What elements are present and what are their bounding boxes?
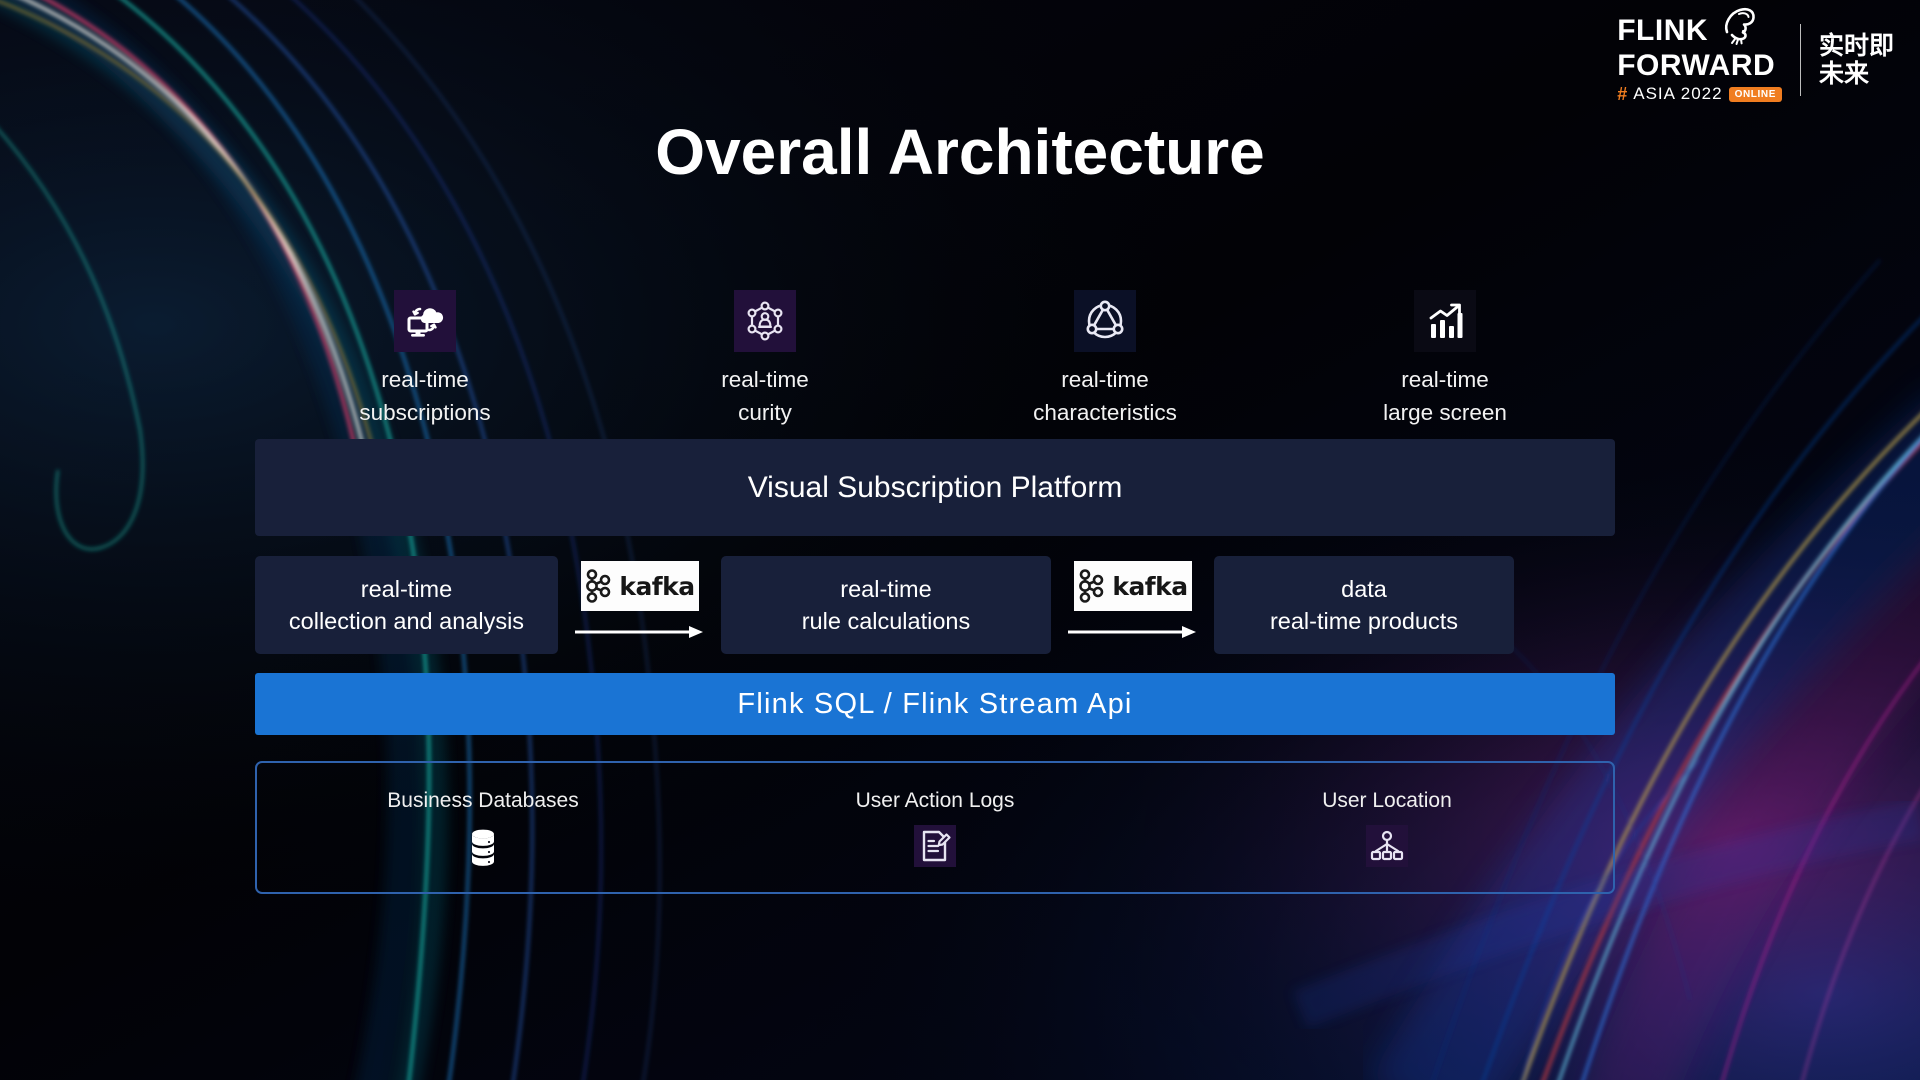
connector-kafka-1: kafka <box>558 556 721 654</box>
source-label: User Location <box>1322 789 1452 813</box>
source-user-action-logs: User Action Logs <box>709 789 1161 867</box>
logo-word-forward: FORWARD <box>1617 51 1775 81</box>
logo-chinese-line1: 实时即 <box>1819 32 1894 60</box>
pipeline-row: real-time collection and analysis <box>255 556 1615 654</box>
source-user-location: User Location <box>1161 789 1613 867</box>
logo-edition-row: # ASIA 2022 ONLINE <box>1617 85 1782 103</box>
consumer-label: real-time characteristics <box>1033 363 1177 429</box>
stage-line2: real-time products <box>1270 605 1458 637</box>
cloud-monitor-sync-icon <box>394 290 456 352</box>
consumer-real-time-curity: real-time curity <box>595 290 935 429</box>
logo-chinese-tagline: 实时即 未来 <box>1819 32 1894 88</box>
connector-kafka-2: kafka <box>1051 556 1214 654</box>
architecture-diagram: real-time subscriptions <box>255 290 1615 894</box>
consumer-label-line2: subscriptions <box>359 396 490 429</box>
flink-engine-bar: Flink SQL / Flink Stream Api <box>255 673 1615 735</box>
flink-forward-logo: FLINK FORWARD # ASIA 2022 ONLINE 实时即 未来 <box>1617 16 1894 103</box>
kafka-label: kafka <box>1112 572 1187 601</box>
consumer-label: real-time large screen <box>1383 363 1507 429</box>
arrow-right-icon <box>575 624 705 640</box>
stage-line1: data <box>1341 573 1387 605</box>
pipeline-stage-collection: real-time collection and analysis <box>255 556 558 654</box>
stage-line2: collection and analysis <box>289 605 524 637</box>
consumer-real-time-large-screen: real-time large screen <box>1275 290 1615 429</box>
arrow-right-icon <box>1068 624 1198 640</box>
consumer-label-line1: real-time <box>721 363 809 396</box>
kafka-logo-icon: kafka <box>581 561 699 611</box>
consumer-label: real-time curity <box>721 363 809 429</box>
visual-subscription-platform-bar: Visual Subscription Platform <box>255 439 1615 536</box>
user-network-hexagon-icon <box>734 290 796 352</box>
consumer-label-line2: characteristics <box>1033 396 1177 429</box>
stage-line1: real-time <box>361 573 452 605</box>
logo-line-flink: FLINK <box>1617 16 1756 51</box>
kafka-logo-icon: kafka <box>1074 561 1192 611</box>
pipeline-stage-data-products: data real-time products <box>1214 556 1514 654</box>
consumer-label-line2: curity <box>721 396 809 429</box>
stage-line1: real-time <box>840 573 931 605</box>
logo-edition: ASIA 2022 <box>1633 85 1722 103</box>
consumer-real-time-characteristics: real-time characteristics <box>935 290 1275 429</box>
logo-chinese-line2: 未来 <box>1819 60 1894 88</box>
database-cylinder-icon <box>462 825 504 867</box>
source-business-databases: Business Databases <box>257 789 709 867</box>
data-sources-panel: Business Databases <box>255 761 1615 894</box>
source-label: Business Databases <box>387 789 578 813</box>
consumer-label-line1: real-time <box>1383 363 1507 396</box>
consumer-label: real-time subscriptions <box>359 363 490 429</box>
consumer-real-time-subscriptions: real-time subscriptions <box>255 290 595 429</box>
org-hierarchy-nodes-icon <box>1366 825 1408 867</box>
logo-text-block: FLINK FORWARD # ASIA 2022 ONLINE <box>1617 16 1782 103</box>
logo-divider <box>1800 24 1801 96</box>
consumer-label-line1: real-time <box>359 363 490 396</box>
logo-hash: # <box>1617 85 1627 103</box>
triangle-network-nodes-icon <box>1074 290 1136 352</box>
logo-word-flink: FLINK <box>1617 16 1708 46</box>
document-edit-icon <box>914 825 956 867</box>
logo-online-badge: ONLINE <box>1729 87 1782 102</box>
kafka-label: kafka <box>619 572 694 601</box>
consumer-label-line1: real-time <box>1033 363 1177 396</box>
stage-line2: rule calculations <box>802 605 971 637</box>
squirrel-bird-logo-icon <box>1710 2 1756 51</box>
consumer-label-line2: large screen <box>1383 396 1507 429</box>
bar-chart-trend-up-icon <box>1414 290 1476 352</box>
page-title: Overall Architecture <box>0 115 1920 189</box>
pipeline-stage-rule-calculations: real-time rule calculations <box>721 556 1051 654</box>
consumer-row: real-time subscriptions <box>255 290 1615 429</box>
source-label: User Action Logs <box>856 789 1015 813</box>
